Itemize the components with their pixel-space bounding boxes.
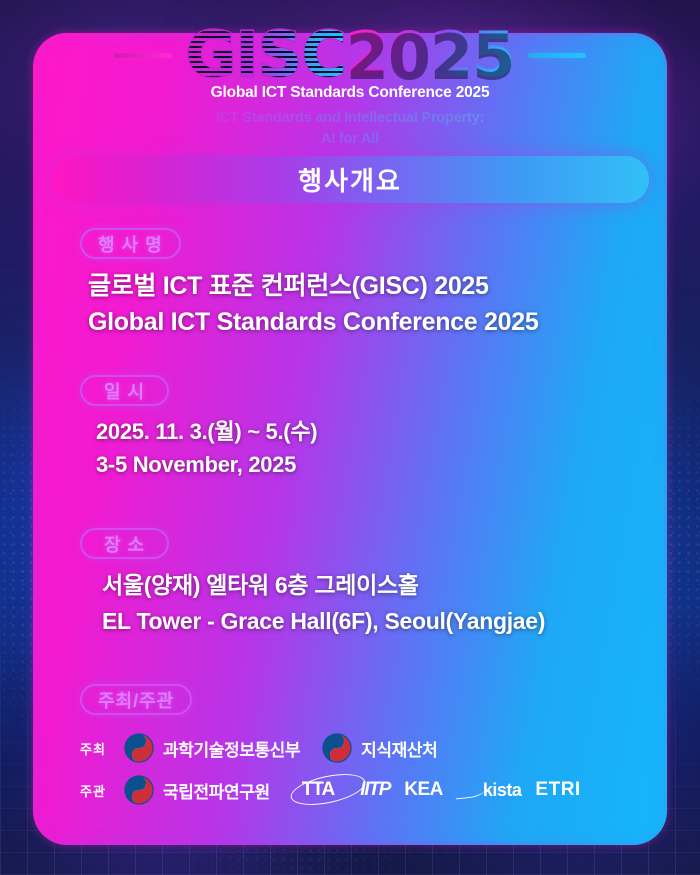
organizer-name: 국립전파연구원 (163, 778, 270, 803)
gisc-wordmark: GISC 2025 (186, 24, 515, 86)
conference-theme: ICT Standards and Intellectual Property:… (0, 108, 700, 150)
section-label-date: 일 시 (80, 375, 169, 406)
partner-logo-tta: TTA (292, 777, 345, 803)
venue-english: EL Tower - Grace Hall(6F), Seoul(Yangjae… (80, 604, 545, 640)
organizer-name: 지식재산처 (361, 736, 437, 761)
event-name-korean: 글로벌 ICT 표준 컨퍼런스(GISC) 2025 (80, 268, 538, 304)
english-title: Global ICT Standards Conference 2025 (0, 84, 700, 102)
logo-gisc-text: GISC (186, 24, 346, 86)
section-host-organizer: 주최/주관 주최 과학기술정보통신부 (80, 684, 581, 811)
partner-logo-kea: KEA (404, 779, 443, 801)
organizer-entry: 국립전파연구원 (124, 775, 270, 805)
partner-logo-kista-text: kista (483, 780, 522, 801)
event-poster: GISC 2025 Global ICT Standards Conferenc… (0, 0, 700, 875)
date-english: 3-5 November, 2025 (80, 448, 317, 481)
korea-government-taegeuk-emblem-icon (124, 733, 154, 763)
organizer-row-host: 주최 과학기술정보통신부 (80, 727, 581, 769)
overview-banner: 행사개요 (51, 156, 649, 203)
organizer-entry: 지식재산처 (322, 733, 437, 763)
partner-logo-kea-text: KEA (404, 779, 443, 801)
theme-line-1: ICT Standards and Intellectual Property: (0, 108, 700, 129)
event-name-english: Global ICT Standards Conference 2025 (80, 304, 538, 340)
organizer-entry: 과학기술정보통신부 (124, 733, 300, 763)
partner-logo-etri: ETRI (535, 779, 580, 801)
section-label-venue: 장 소 (80, 528, 169, 559)
venue-korean: 서울(양재) 엘타워 6층 그레이스홀 (80, 568, 545, 604)
korea-government-taegeuk-emblem-icon (124, 775, 154, 805)
organizer-role-label: 주관 (80, 781, 124, 800)
logo-dash-left-icon (114, 53, 172, 58)
section-label-host: 주최/주관 (80, 684, 192, 715)
organizer-row-organizer: 주관 국립전파연구원 TTA (80, 769, 581, 811)
section-venue: 장 소 서울(양재) 엘타워 6층 그레이스홀 EL Tower - Grace… (80, 528, 545, 639)
logo-dash-right-icon (528, 53, 586, 58)
theme-line-2: AI for All (0, 129, 700, 150)
korea-government-taegeuk-emblem-icon (322, 733, 352, 763)
date-korean: 2025. 11. 3.(월) ~ 5.(수) (80, 415, 317, 448)
logo-year-text: 2025 (346, 24, 515, 86)
overview-banner-title: 행사개요 (298, 161, 402, 198)
logo-lockup: GISC 2025 (0, 24, 700, 86)
organizer-role-label: 주최 (80, 739, 124, 758)
section-label-event-name: 행 사 명 (80, 228, 181, 259)
section-event-name: 행 사 명 글로벌 ICT 표준 컨퍼런스(GISC) 2025 Global … (80, 228, 538, 341)
organizer-name: 과학기술정보통신부 (163, 736, 300, 761)
kista-swoosh-icon (454, 784, 485, 799)
section-date: 일 시 2025. 11. 3.(월) ~ 5.(수) 3-5 November… (80, 375, 317, 481)
partner-logo-kista: kista (477, 780, 522, 801)
partner-logo-etri-text: ETRI (535, 779, 580, 801)
tta-ellipse-icon (288, 768, 368, 810)
